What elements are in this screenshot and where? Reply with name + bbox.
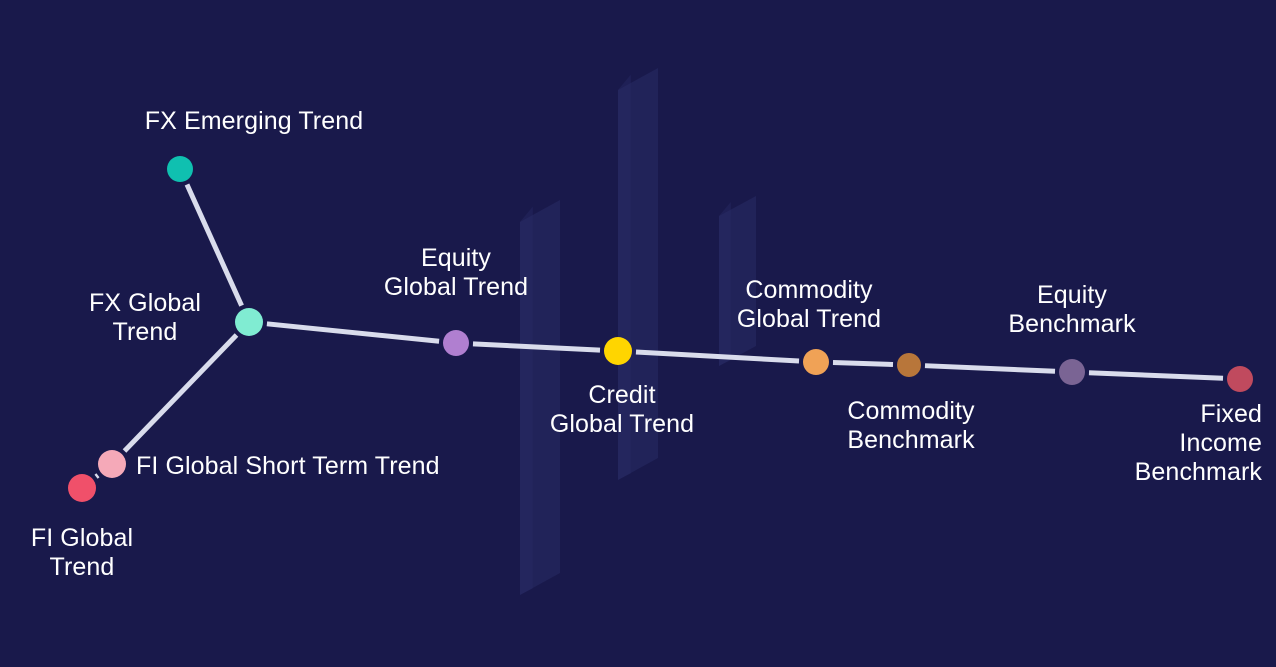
label-equity-benchmark: Equity Benchmark	[1008, 281, 1135, 339]
label-credit-global-trend: Credit Global Trend	[550, 381, 694, 439]
diagram-canvas: FX Emerging TrendFX Global TrendFI Globa…	[0, 0, 1276, 667]
label-fixed-income-benchmark: Fixed Income Benchmark	[1135, 400, 1262, 487]
label-fx-emerging-trend: FX Emerging Trend	[145, 107, 363, 136]
label-fx-global-trend: FX Global Trend	[89, 289, 201, 347]
label-equity-global-trend: Equity Global Trend	[384, 244, 528, 302]
label-commodity-global-trend: Commodity Global Trend	[737, 276, 881, 334]
label-fi-global-short-term-trend: FI Global Short Term Trend	[136, 452, 440, 481]
label-fi-global-trend: FI Global Trend	[31, 524, 133, 582]
label-commodity-benchmark: Commodity Benchmark	[847, 397, 974, 455]
label-layer: FX Emerging TrendFX Global TrendFI Globa…	[0, 0, 1276, 667]
